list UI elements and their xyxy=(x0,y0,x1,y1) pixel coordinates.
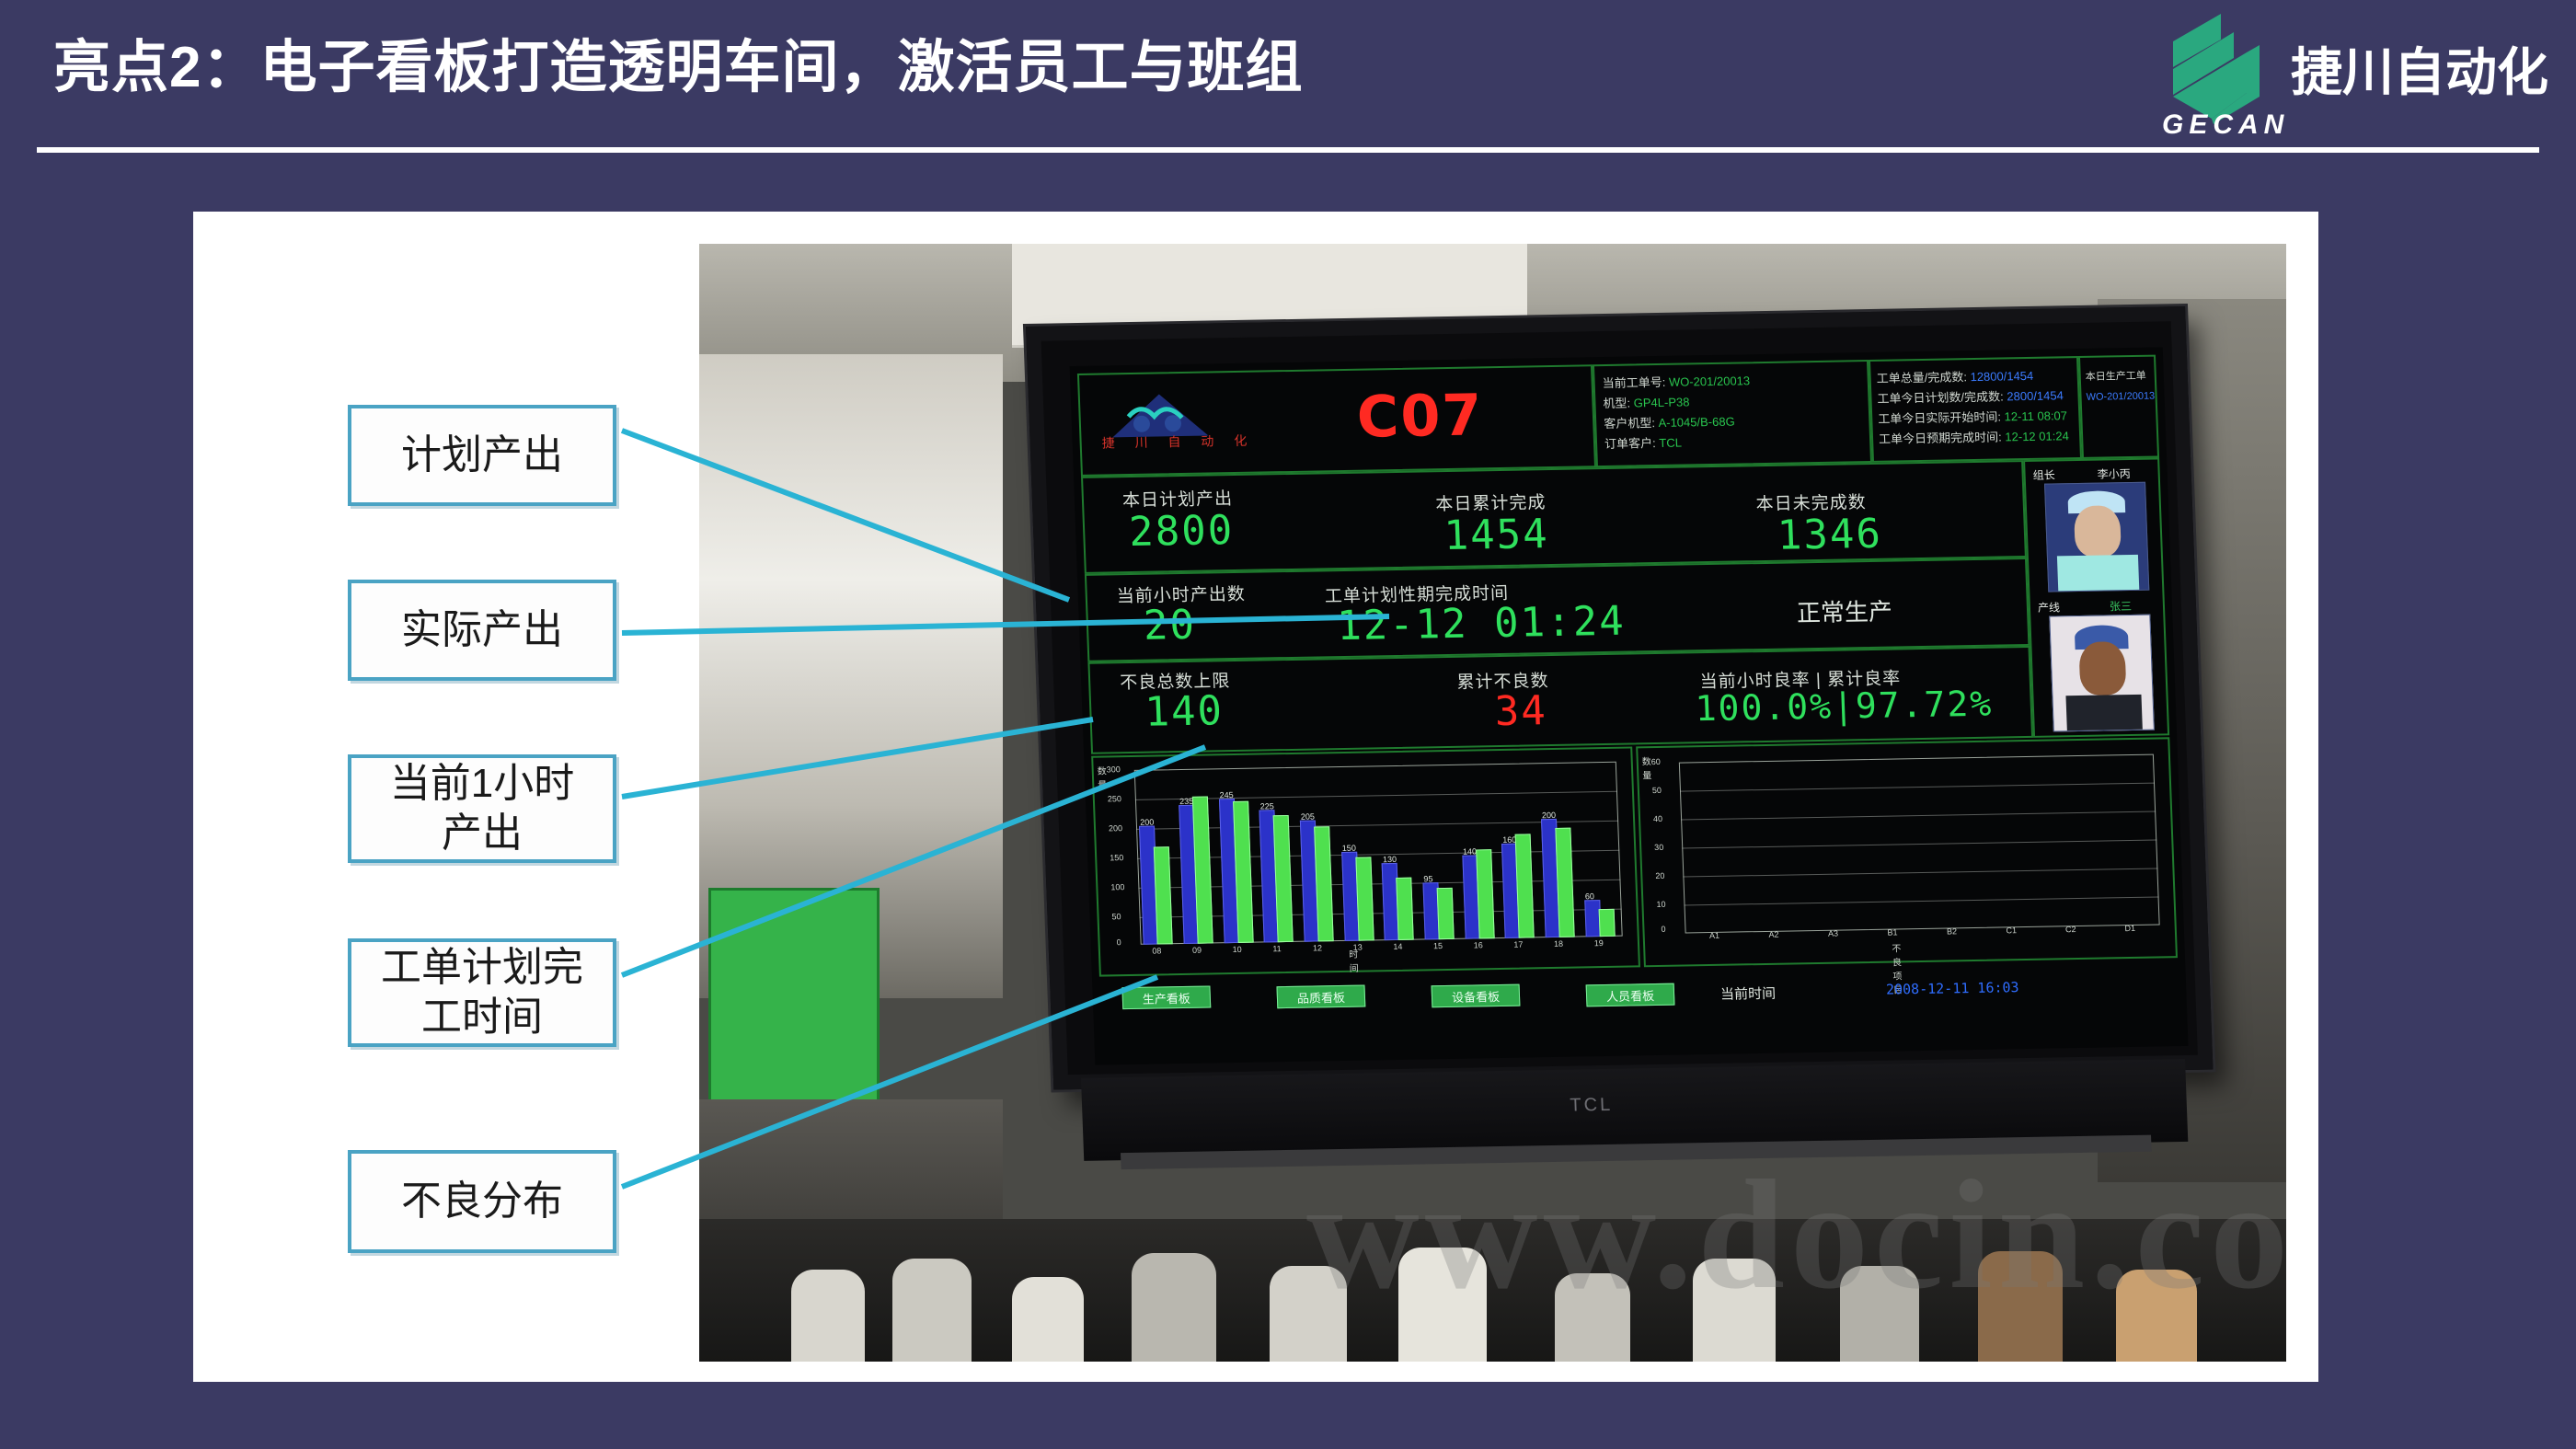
chart2-ytick: 10 xyxy=(1656,900,1665,909)
order-info-value: GP4L-P38 xyxy=(1633,395,1689,409)
chart1-bar-实际-12 xyxy=(1314,826,1333,942)
chart1-bar-实际-17 xyxy=(1515,834,1535,938)
workshop-photo: 捷 川 自 动 化 C07 当前工单号: WO-201/20013 机型: GP… xyxy=(699,244,2286,1362)
chart1-xtick: 11 xyxy=(1272,944,1282,953)
brand-lockup: GECAN 捷川自动化 xyxy=(2156,7,2548,145)
footer-time-label: 当前时间 xyxy=(1720,983,1777,1004)
chart1-ytick: 0 xyxy=(1116,937,1121,947)
chart1-bars: 2000823509245102251120512150131301495151… xyxy=(1134,762,1623,945)
callout-order-due-time[interactable]: 工单计划完 工时间 xyxy=(348,938,616,1047)
order-progress-value: 12-11 08:07 xyxy=(2004,408,2067,423)
kpi-value-cumulative-done: 1454 xyxy=(1443,511,1550,559)
operator-role-1: 组长 xyxy=(2032,466,2055,482)
order-progress-key: 工单今日预期完成时间: xyxy=(1879,430,2002,445)
order-info-key: 机型: xyxy=(1603,397,1630,411)
board-today-order-panel: 本日生产工单 WO-201/20013 xyxy=(2078,355,2159,459)
chart2-ytick: 50 xyxy=(1652,786,1662,795)
brand-name: 捷川自动化 xyxy=(2291,31,2548,122)
chart1-bar-label: 95 xyxy=(1423,874,1432,883)
order-progress-key: 工单今日计划数/完成数: xyxy=(1877,389,2004,405)
chart2-xtick: B2 xyxy=(1947,926,1957,936)
callout-plan-output-label: 计划产出 xyxy=(401,431,563,480)
operator-avatar-1 xyxy=(2044,482,2149,592)
operator-name-1: 李小丙 xyxy=(2097,466,2131,482)
chart1-bar-label: 130 xyxy=(1383,855,1397,864)
callout-current-hour-label: 当前1小时 产出 xyxy=(390,759,574,857)
order-progress-key: 工单总量/完成数: xyxy=(1876,370,1967,385)
order-progress-value: 2800/1454 xyxy=(2007,388,2064,403)
callout-defect-dist[interactable]: 不良分布 xyxy=(348,1150,616,1253)
chart2-ytick: 20 xyxy=(1655,871,1664,880)
production-status-text: 正常生产 xyxy=(1796,593,1892,629)
photo-worker xyxy=(1978,1251,2063,1362)
operator-role-2: 产线 xyxy=(2038,599,2061,615)
chart1-ytick: 150 xyxy=(1110,853,1123,862)
photo-worker xyxy=(892,1259,972,1362)
photo-worker xyxy=(2116,1270,2197,1362)
operator-name-2: 张三 xyxy=(2110,598,2133,614)
today-order-value: WO-201/20013 xyxy=(2086,386,2155,408)
defect-distribution-chart-panel: 数量 60 50 40 30 20 10 0 A1A xyxy=(1636,737,2178,967)
chart1-xtick: 10 xyxy=(1233,945,1242,954)
chart1-bar-实际-08 xyxy=(1154,846,1173,945)
callout-current-hour[interactable]: 当前1小时 产出 xyxy=(348,754,616,863)
chart1-ytick: 100 xyxy=(1110,882,1124,891)
footer-button-production[interactable]: 生产看板 xyxy=(1121,985,1211,1009)
chart1-bar-label: 225 xyxy=(1260,801,1274,811)
factory-logo-text: 捷 川 自 动 化 xyxy=(1101,431,1255,453)
chart2-ytick: 30 xyxy=(1654,843,1663,852)
photo-worker xyxy=(1132,1253,1216,1362)
gecan-leaf-logo-icon: GECAN xyxy=(2156,8,2278,144)
order-info-value: TCL xyxy=(1659,436,1682,450)
board-screen: 捷 川 自 动 化 C07 当前工单号: WO-201/20013 机型: GP… xyxy=(1070,347,2189,1064)
chart1-xtick: 18 xyxy=(1554,939,1563,949)
chart2-xtick: A1 xyxy=(1709,931,1719,940)
chart1-ytick: 250 xyxy=(1108,794,1121,803)
chart1-bar-label: 205 xyxy=(1301,812,1315,822)
chart1-bar-实际-15 xyxy=(1437,888,1455,939)
line-code: C07 xyxy=(1356,381,1485,450)
kpi-value-plan-output: 2800 xyxy=(1128,507,1235,556)
order-info-key: 客户机型: xyxy=(1604,416,1655,431)
chart1-bar-实际-16 xyxy=(1476,849,1494,938)
kpi-value-due-time: 12-12 01:24 xyxy=(1336,598,1626,650)
photo-worker-row xyxy=(699,1219,2286,1362)
chart1-bar-label: 200 xyxy=(1542,811,1556,820)
photo-worker xyxy=(1555,1273,1630,1362)
order-info-value: A-1045/B-68G xyxy=(1658,415,1735,430)
chart1-xlabel: 时间 xyxy=(1349,947,1359,974)
board-order-progress-panel: 工单总量/完成数: 12800/1454 工单今日计划数/完成数: 2800/1… xyxy=(1869,356,2082,463)
chart2-ytick: 40 xyxy=(1653,814,1662,823)
chart1-bar-label: 245 xyxy=(1219,790,1233,799)
chart1-ytick: 50 xyxy=(1111,912,1121,921)
kpi-value-current-hour: 20 xyxy=(1143,602,1197,650)
order-info-key: 当前工单号: xyxy=(1602,375,1665,390)
photo-worker xyxy=(1840,1266,1919,1362)
gecan-wordmark: GECAN xyxy=(2162,109,2289,141)
header-divider xyxy=(37,147,2539,153)
chart1-bar-实际-14 xyxy=(1397,877,1414,940)
photo-worker xyxy=(1270,1266,1347,1362)
page-header: 亮点2：电子看板打造透明车间，激活员工与班组 GECAN 捷川自动化 xyxy=(0,0,2576,162)
kpi-value-remaining: 1346 xyxy=(1777,511,1883,559)
chart1-xtick: 17 xyxy=(1513,940,1523,949)
chart1-bar-label: 150 xyxy=(1342,844,1356,853)
order-progress-value: 12-12 01:24 xyxy=(2005,429,2069,443)
led-kanban-board: 捷 川 自 动 化 C07 当前工单号: WO-201/20013 机型: GP… xyxy=(1026,306,2216,1172)
today-order-key: 本日生产工单 xyxy=(2085,366,2154,387)
chart1-xtick: 16 xyxy=(1474,940,1483,949)
footer-button-equipment[interactable]: 设备看板 xyxy=(1432,984,1521,1008)
photo-worker xyxy=(1398,1248,1487,1362)
callout-defect-dist-label: 不良分布 xyxy=(401,1177,563,1226)
chart1-bar-实际-13 xyxy=(1355,857,1374,941)
chart1-bar-实际-18 xyxy=(1555,827,1574,937)
chart1-xtick: 12 xyxy=(1313,943,1322,952)
chart2-xtick: D1 xyxy=(2124,924,2135,933)
kpi-value-defect-total: 34 xyxy=(1494,687,1548,735)
chart1-bar-实际-19 xyxy=(1598,908,1615,937)
photo-worker xyxy=(1012,1277,1084,1362)
board-tv-brand: TCL xyxy=(1570,1095,1614,1117)
callout-actual-output[interactable]: 实际产出 xyxy=(348,580,616,681)
kpi-value-defect-limit: 140 xyxy=(1144,687,1225,735)
photo-worker xyxy=(791,1270,865,1362)
chart1-xtick: 14 xyxy=(1393,942,1402,951)
chart2-xtick: A2 xyxy=(1768,930,1778,939)
order-progress-value: 12800/1454 xyxy=(1970,369,2033,384)
chart2-xtick: B1 xyxy=(1887,927,1897,937)
chart2-xtick: C1 xyxy=(2006,926,2017,935)
order-info-key: 订单客户: xyxy=(1604,436,1656,451)
chart1-xtick: 08 xyxy=(1152,946,1161,955)
order-info-value: WO-201/20013 xyxy=(1669,374,1751,389)
chart2-ytick: 60 xyxy=(1651,757,1661,766)
footer-time-value: 2008-12-11 16:03 xyxy=(1886,979,2019,998)
board-bezel: 捷 川 自 动 化 C07 当前工单号: WO-201/20013 机型: GP… xyxy=(1026,306,2213,1089)
chart1-bar-label: 200 xyxy=(1140,818,1154,827)
footer-button-quality[interactable]: 品质看板 xyxy=(1276,985,1365,1009)
chart1-ytick: 300 xyxy=(1107,765,1121,774)
photo-green-machine xyxy=(708,888,880,1133)
chart1-xtick: 19 xyxy=(1594,938,1604,948)
callout-plan-output[interactable]: 计划产出 xyxy=(348,405,616,506)
chart1-bar-label: 60 xyxy=(1585,891,1594,901)
photo-worker xyxy=(1693,1259,1776,1362)
page-title: 亮点2：电子看板打造透明车间，激活员工与班组 xyxy=(53,20,1303,103)
board-order-info-panel: 当前工单号: WO-201/20013 机型: GP4L-P38 客户机型: A… xyxy=(1593,360,1872,467)
hourly-output-chart-panel: 数量 300 250 200 150 100 5 xyxy=(1091,746,1640,976)
kpi-value-yield: 100.0%|97.72% xyxy=(1695,684,1994,730)
chart2-xtick: C2 xyxy=(2065,925,2076,934)
callout-actual-output-label: 实际产出 xyxy=(401,605,563,655)
order-progress-key: 工单今日实际开始时间: xyxy=(1878,410,2001,426)
chart1-ytick: 200 xyxy=(1109,823,1122,833)
chart2-ytick: 0 xyxy=(1661,925,1665,934)
chart1-xtick: 15 xyxy=(1433,941,1443,950)
board-header-left-panel: 捷 川 自 动 化 C07 xyxy=(1077,364,1596,477)
chart2-xtick: A3 xyxy=(1828,929,1838,938)
footer-button-personnel[interactable]: 人员看板 xyxy=(1586,983,1675,1007)
chart1-xtick: 09 xyxy=(1192,946,1202,955)
callout-order-due-time-label: 工单计划完 工时间 xyxy=(381,943,583,1041)
operator-avatar-2 xyxy=(2049,615,2155,732)
